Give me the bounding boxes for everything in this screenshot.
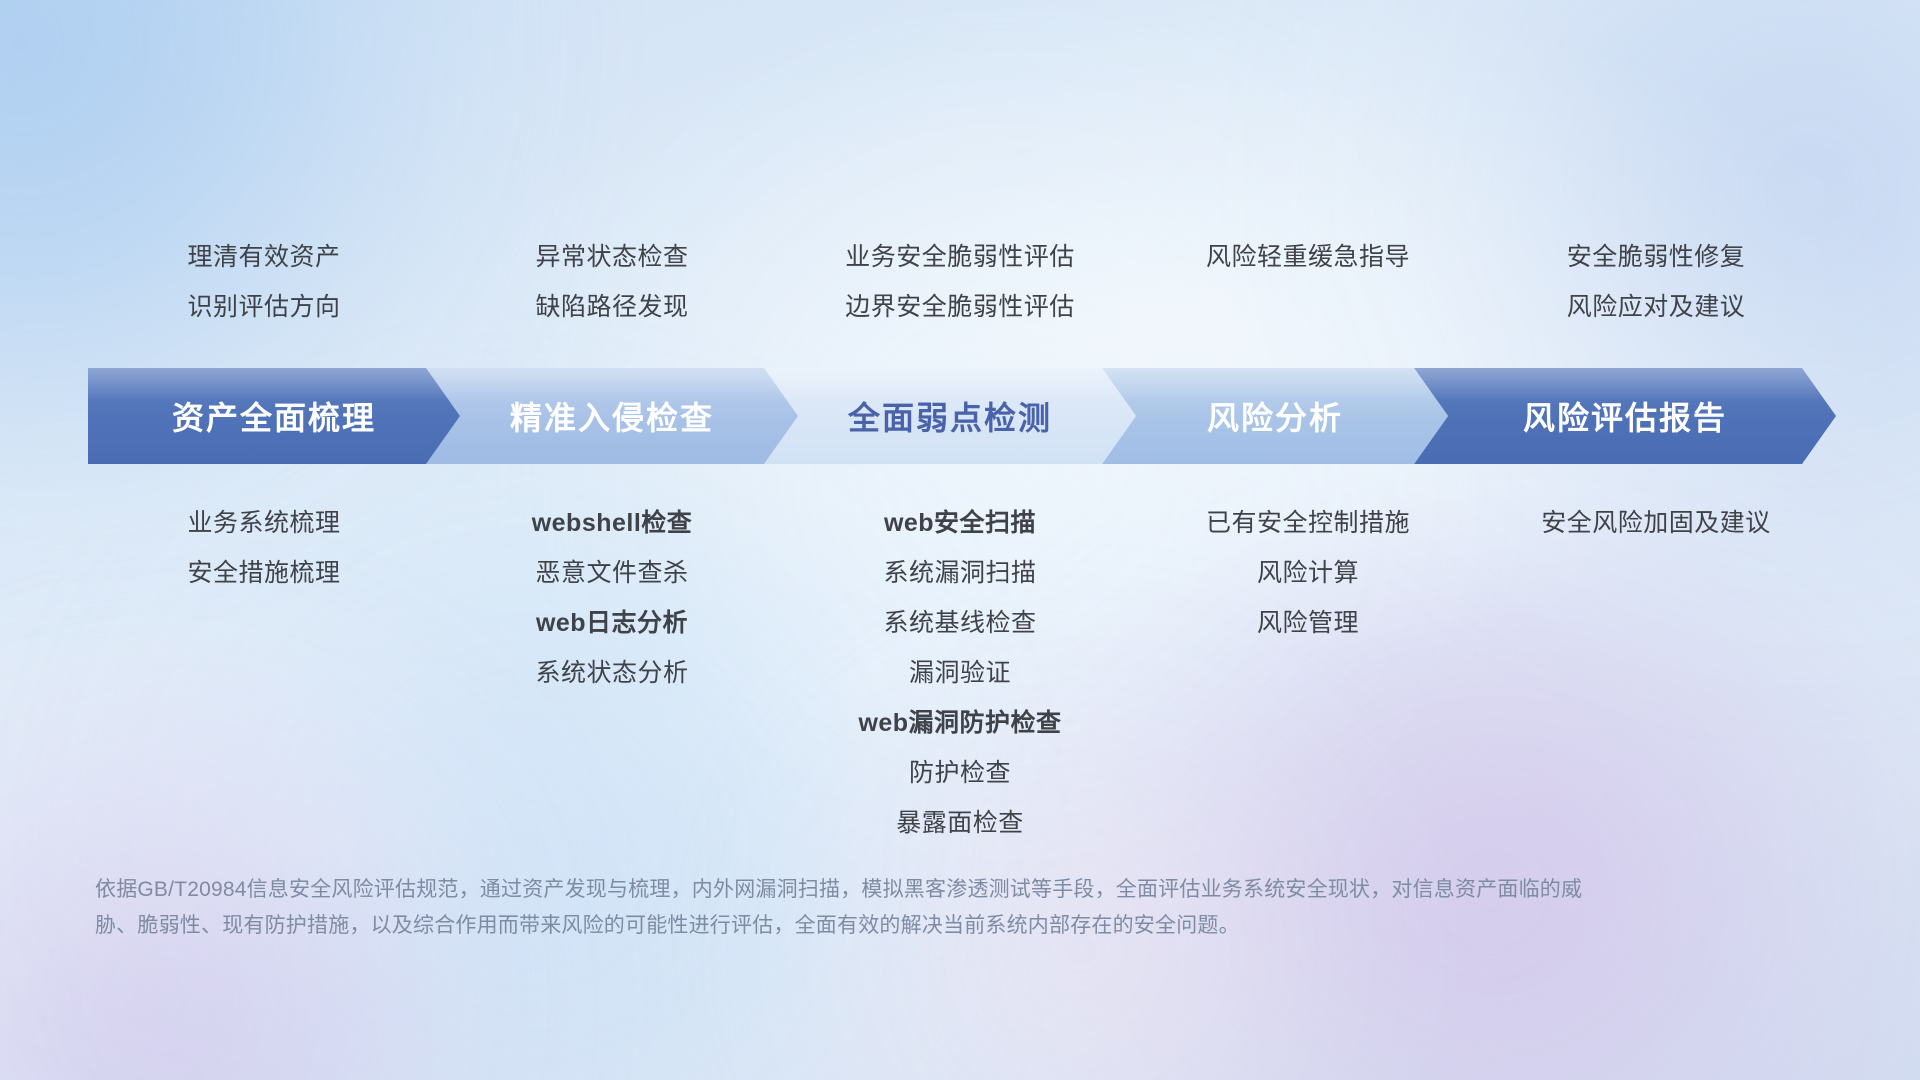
top-label-group-weakness-detection: 业务安全脆弱性评估边界安全脆弱性评估 — [786, 232, 1134, 332]
top-label: 识别评估方向 — [187, 282, 340, 332]
stage-label: 风险评估报告 — [1523, 393, 1727, 439]
bottom-list-intrusion-check: webshell检查恶意文件查杀web日志分析系统状态分析 — [438, 498, 786, 698]
bottom-lists-row: 业务系统梳理安全措施梳理webshell检查恶意文件查杀web日志分析系统状态分… — [90, 498, 1830, 848]
list-item: 恶意文件查杀 — [535, 548, 688, 598]
list-item: 漏洞验证 — [909, 648, 1011, 698]
top-label: 理清有效资产 — [187, 232, 340, 282]
list-item: 风险管理 — [1257, 598, 1359, 648]
stage-label: 资产全面梳理 — [172, 393, 376, 439]
footer-description: 依据GB/T20984信息安全风险评估规范，通过资产发现与梳理，内外网漏洞扫描，… — [95, 872, 1615, 944]
top-label-group-asset-inventory: 理清有效资产识别评估方向 — [90, 232, 438, 332]
list-item: 系统漏洞扫描 — [883, 548, 1036, 598]
stage-chevron-weakness-detection[interactable]: 全面弱点检测 — [764, 368, 1136, 464]
top-label: 边界安全脆弱性评估 — [845, 282, 1075, 332]
list-item: 防护检查 — [909, 748, 1011, 798]
list-item: 业务系统梳理 — [187, 498, 340, 548]
top-label: 风险应对及建议 — [1567, 282, 1746, 332]
list-item: 系统状态分析 — [535, 648, 688, 698]
stage-label: 全面弱点检测 — [848, 393, 1052, 439]
top-label: 风险轻重缓急指导 — [1206, 232, 1410, 282]
top-label-group-intrusion-check: 异常状态检查缺陷路径发现 — [438, 232, 786, 332]
list-item: 风险计算 — [1257, 548, 1359, 598]
stage-chevron-intrusion-check[interactable]: 精准入侵检查 — [426, 368, 798, 464]
stage-chevron-band: 资产全面梳理精准入侵检查全面弱点检测风险分析风险评估报告 — [88, 368, 1836, 464]
list-item: webshell检查 — [532, 498, 693, 548]
top-label-group-risk-report: 安全脆弱性修复风险应对及建议 — [1482, 232, 1830, 332]
stage-label: 精准入侵检查 — [510, 393, 714, 439]
process-diagram: 理清有效资产识别评估方向异常状态检查缺陷路径发现业务安全脆弱性评估边界安全脆弱性… — [0, 0, 1920, 1080]
list-item: web漏洞防护检查 — [858, 698, 1061, 748]
bottom-list-risk-report: 安全风险加固及建议 — [1482, 498, 1830, 548]
top-label: 缺陷路径发现 — [535, 282, 688, 332]
top-label: 业务安全脆弱性评估 — [845, 232, 1075, 282]
stage-chevron-risk-analysis[interactable]: 风险分析 — [1102, 368, 1448, 464]
bottom-list-weakness-detection: web安全扫描系统漏洞扫描系统基线检查漏洞验证web漏洞防护检查防护检查暴露面检… — [786, 498, 1134, 848]
stage-chevron-asset-inventory[interactable]: 资产全面梳理 — [88, 368, 460, 464]
stage-label: 风险分析 — [1207, 393, 1343, 439]
list-item: web日志分析 — [536, 598, 688, 648]
list-item: 安全措施梳理 — [187, 548, 340, 598]
top-labels-row: 理清有效资产识别评估方向异常状态检查缺陷路径发现业务安全脆弱性评估边界安全脆弱性… — [90, 232, 1830, 332]
top-label: 安全脆弱性修复 — [1567, 232, 1746, 282]
list-item: 已有安全控制措施 — [1206, 498, 1410, 548]
list-item: 暴露面检查 — [896, 798, 1024, 848]
top-label-group-risk-analysis: 风险轻重缓急指导 — [1134, 232, 1482, 332]
list-item: 安全风险加固及建议 — [1541, 498, 1771, 548]
bottom-list-asset-inventory: 业务系统梳理安全措施梳理 — [90, 498, 438, 598]
stage-chevron-risk-report[interactable]: 风险评估报告 — [1414, 368, 1836, 464]
bottom-list-risk-analysis: 已有安全控制措施风险计算风险管理 — [1134, 498, 1482, 648]
list-item: 系统基线检查 — [883, 598, 1036, 648]
list-item: web安全扫描 — [884, 498, 1036, 548]
top-label: 异常状态检查 — [535, 232, 688, 282]
